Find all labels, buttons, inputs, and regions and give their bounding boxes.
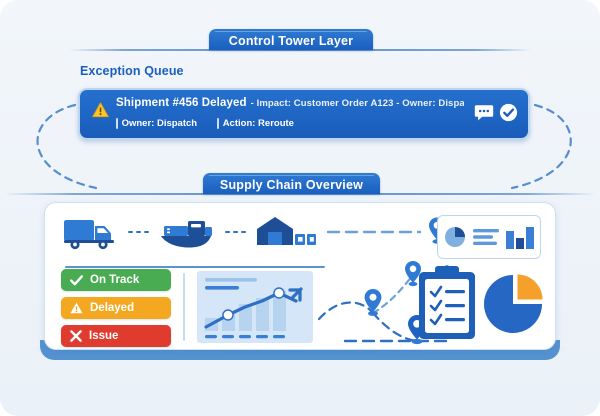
comment-bubble-icon[interactable] <box>474 104 494 122</box>
check-icon <box>70 275 83 286</box>
ship-icon <box>158 214 216 250</box>
alert-title: Shipment #456 Delayed <box>116 97 247 109</box>
alert-meta-line: Owner: Dispatch Action: Reroute <box>116 118 294 129</box>
pie-chart-icon <box>444 226 466 248</box>
pie-chart-icon <box>485 273 545 335</box>
tab-control-tower-layer[interactable]: Control Tower Layer <box>209 29 373 50</box>
alert-action-buttons <box>474 103 518 122</box>
supply-chain-overview-card: On Track Delayed Issue <box>44 202 556 350</box>
status-badge-issue-label: Issue <box>89 330 118 342</box>
warning-triangle-icon <box>70 302 83 314</box>
supply-chain-node-row <box>63 213 477 251</box>
bar-chart-icon <box>506 225 534 249</box>
check-circle-icon[interactable] <box>499 103 518 122</box>
chain-connector-1 <box>128 231 149 234</box>
status-badge-issue[interactable]: Issue <box>61 325 171 347</box>
chain-baseline <box>65 266 325 268</box>
status-badge-list: On Track Delayed Issue <box>61 269 171 347</box>
status-badge-delayed-label: Delayed <box>90 302 134 314</box>
status-badge-on-track-label: On Track <box>90 274 139 286</box>
chain-connector-3 <box>326 226 422 238</box>
status-badge-delayed[interactable]: Delayed <box>61 297 171 319</box>
exception-alert-card[interactable]: Shipment #456 Delayed - Impact: Customer… <box>78 88 530 140</box>
trend-chart <box>197 271 313 343</box>
panel-divider <box>183 273 185 341</box>
infographic-canvas: Control Tower Layer Exception Queue Ship… <box>0 0 600 416</box>
truck-icon <box>63 213 119 251</box>
alert-action-label: Action: Reroute <box>223 118 294 129</box>
owner-divider <box>116 118 118 129</box>
kpi-widget[interactable] <box>437 215 541 259</box>
map-pin-icon <box>365 289 382 316</box>
tab-supply-chain-overview[interactable]: Supply Chain Overview <box>203 173 380 194</box>
clipboard-check-icon <box>417 265 477 341</box>
alert-owner-label: Owner: Dispatch <box>122 118 198 129</box>
exception-queue-heading: Exception Queue <box>80 64 184 78</box>
alert-action: Action: Reroute <box>217 118 294 129</box>
alert-detail: - Impact: Customer Order A123 - Owner: D… <box>251 98 464 109</box>
list-lines-icon <box>473 227 499 247</box>
warehouse-icon <box>255 214 317 250</box>
cross-icon <box>70 330 82 342</box>
alert-primary-line: Shipment #456 Delayed - Impact: Customer… <box>116 97 464 109</box>
status-badge-on-track[interactable]: On Track <box>61 269 171 291</box>
alert-owner: Owner: Dispatch <box>116 118 197 129</box>
chain-connector-2 <box>225 231 246 234</box>
action-divider <box>217 118 219 129</box>
warning-triangle-icon <box>92 102 109 118</box>
